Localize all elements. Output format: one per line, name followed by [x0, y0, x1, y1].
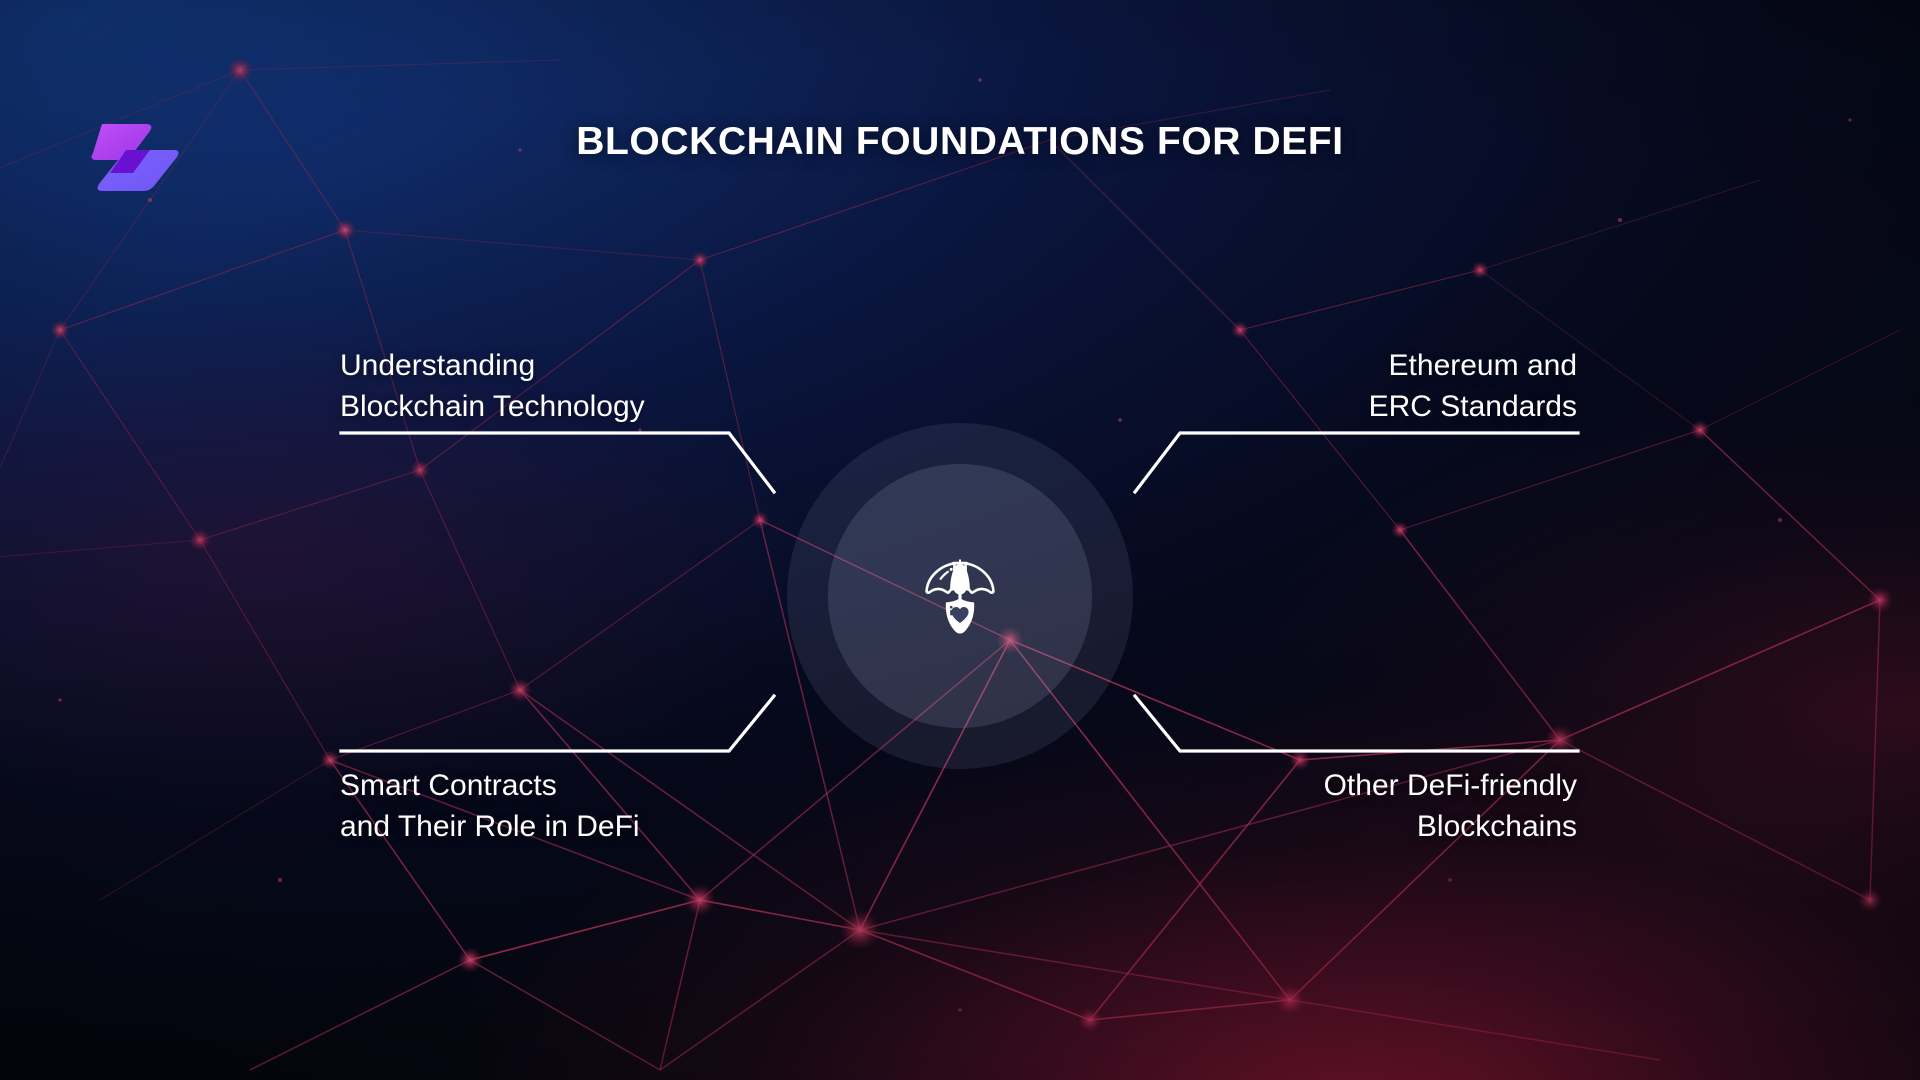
item-label-top-left: Understanding Blockchain Technology — [340, 345, 645, 427]
center-hub-inner — [828, 464, 1092, 728]
slide-canvas: BLOCKCHAIN FOUNDATIONS FOR DEFI — [0, 0, 1920, 1080]
item-label-bottom-right: Other DeFi-friendly Blockchains — [1324, 765, 1577, 847]
item-label-bottom-left: Smart Contracts and Their Role in DeFi — [340, 765, 640, 847]
center-hub — [787, 423, 1133, 769]
umbrella-shield-heart-icon — [924, 556, 996, 636]
page-title: BLOCKCHAIN FOUNDATIONS FOR DEFI — [0, 120, 1920, 164]
item-label-top-right: Ethereum and ERC Standards — [1369, 345, 1577, 427]
